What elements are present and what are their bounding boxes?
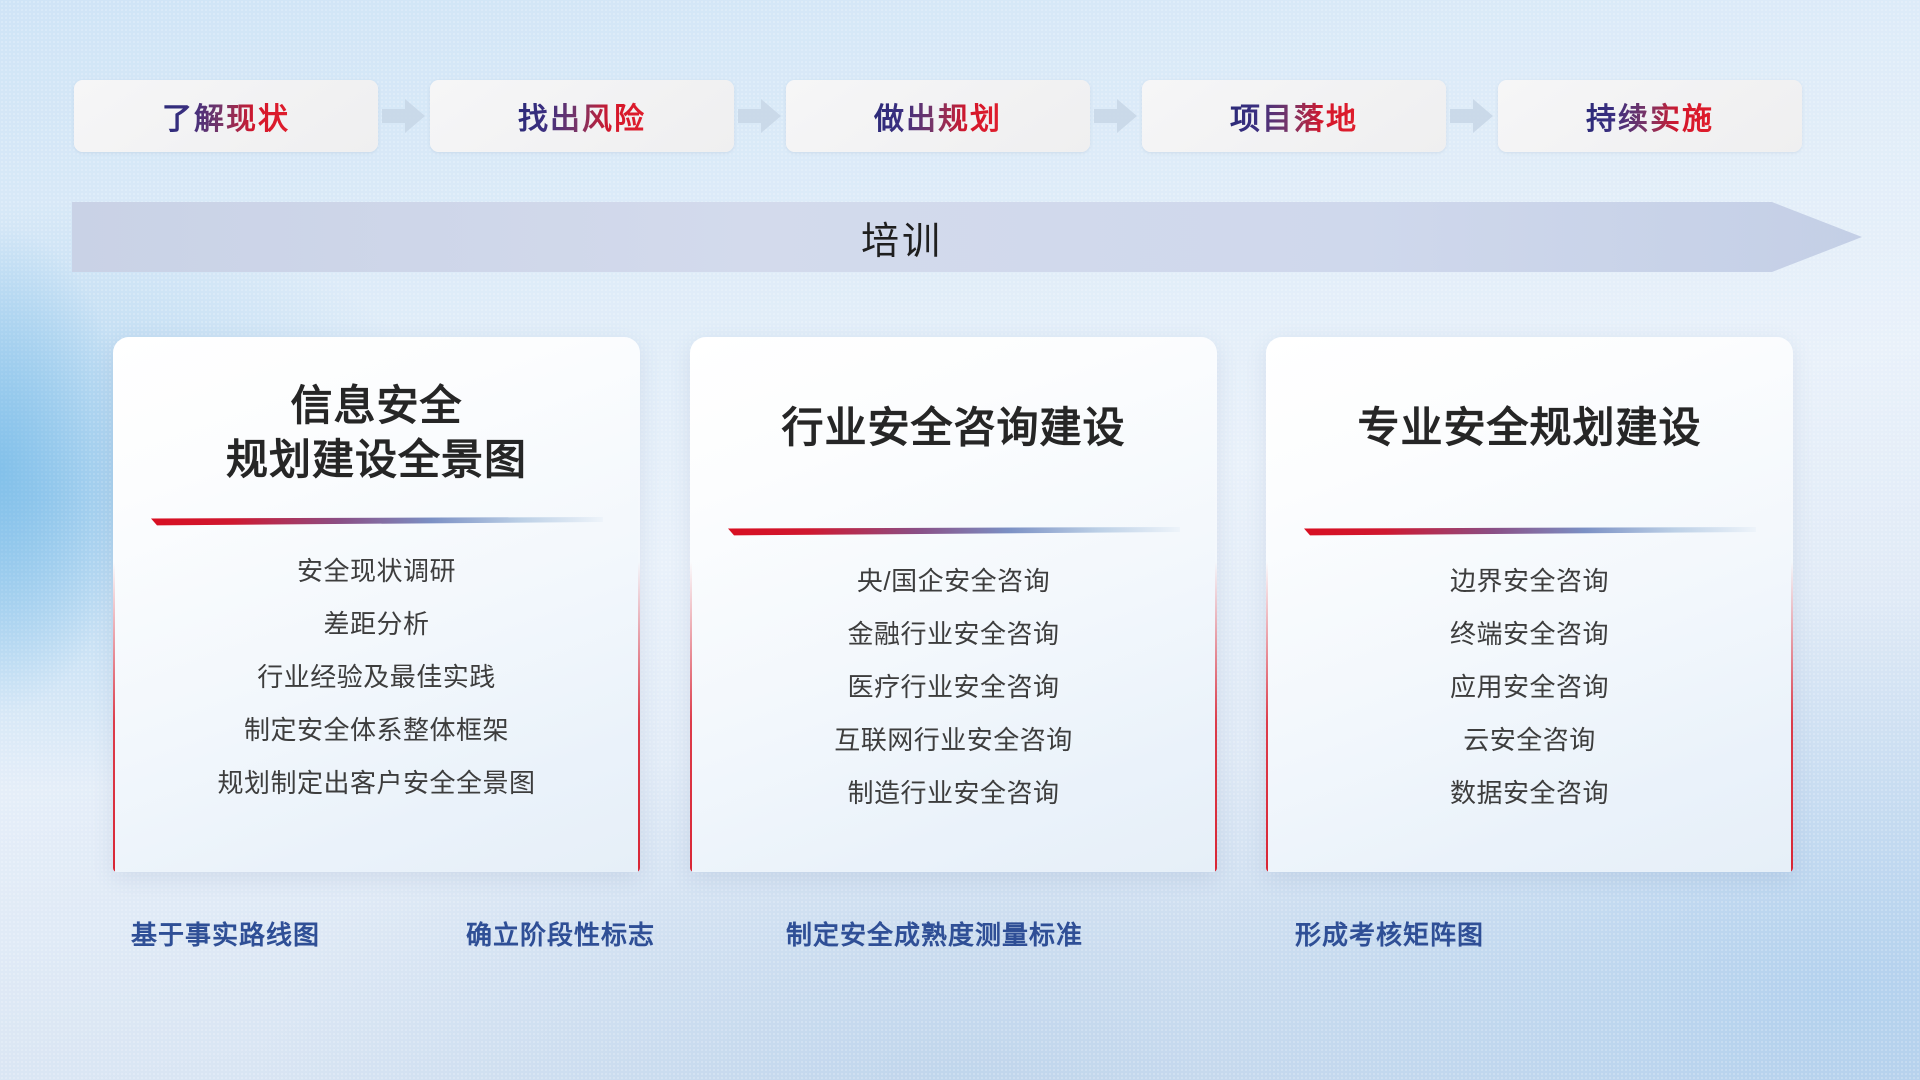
step-label-2: 找出风险 [518,94,646,138]
card-divider-1 [151,517,603,526]
card-title-3: 专业安全规划建设 [1266,337,1793,455]
step-box-4[interactable]: 项目落地 [1142,80,1446,152]
cards-row: 信息安全 规划建设全景图安全现状调研差距分析行业经验及最佳实践制定安全体系整体框… [0,337,1920,877]
step-label-5: 持续实施 [1586,94,1714,138]
caption-1: 基于事实路线图 [131,915,320,952]
captions-row: 基于事实路线图确立阶段性标志制定安全成熟度测量标准形成考核矩阵图 [0,915,1920,965]
list-item[interactable]: 规划制定出客户安全全景图 [133,770,620,796]
list-item[interactable]: 央/国企安全咨询 [710,568,1197,594]
step-arrow-icon-1 [378,96,430,136]
card-list-3: 边界安全咨询终端安全咨询应用安全咨询云安全咨询数据安全咨询 [1266,536,1793,806]
step-box-1[interactable]: 了解现状 [74,80,378,152]
card-divider-3 [1304,527,1756,536]
list-item[interactable]: 数据安全咨询 [1286,780,1773,806]
banner-label: 培训 [72,202,1732,272]
service-card-1[interactable]: 信息安全 规划建设全景图安全现状调研差距分析行业经验及最佳实践制定安全体系整体框… [113,337,640,872]
step-label-1: 了解现状 [162,94,290,138]
process-steps-row: 了解现状找出风险做出规划项目落地持续实施 [0,80,1920,152]
caption-4: 形成考核矩阵图 [1295,915,1484,952]
service-card-2[interactable]: 行业安全咨询建设央/国企安全咨询金融行业安全咨询医疗行业安全咨询互联网行业安全咨… [690,337,1217,872]
card-title-2: 行业安全咨询建设 [690,337,1217,455]
caption-2: 确立阶段性标志 [466,915,655,952]
list-item[interactable]: 差距分析 [133,611,620,637]
list-item[interactable]: 边界安全咨询 [1286,568,1773,594]
card-divider-2 [728,527,1180,536]
card-list-2: 央/国企安全咨询金融行业安全咨询医疗行业安全咨询互联网行业安全咨询制造行业安全咨… [690,536,1217,806]
step-arrow-icon-4 [1446,96,1498,136]
list-item[interactable]: 云安全咨询 [1286,727,1773,753]
list-item[interactable]: 制定安全体系整体框架 [133,717,620,743]
step-box-5[interactable]: 持续实施 [1498,80,1802,152]
service-card-3[interactable]: 专业安全规划建设边界安全咨询终端安全咨询应用安全咨询云安全咨询数据安全咨询 [1266,337,1793,872]
step-label-3: 做出规划 [874,94,1002,138]
list-item[interactable]: 制造行业安全咨询 [710,780,1197,806]
step-label-4: 项目落地 [1230,94,1358,138]
card-list-1: 安全现状调研差距分析行业经验及最佳实践制定安全体系整体框架规划制定出客户安全全景… [113,526,640,796]
list-item[interactable]: 金融行业安全咨询 [710,621,1197,647]
card-title-1: 信息安全 规划建设全景图 [113,337,640,487]
step-arrow-icon-2 [734,96,786,136]
list-item[interactable]: 应用安全咨询 [1286,674,1773,700]
list-item[interactable]: 安全现状调研 [133,558,620,584]
list-item[interactable]: 互联网行业安全咨询 [710,727,1197,753]
list-item[interactable]: 医疗行业安全咨询 [710,674,1197,700]
training-banner: 培训 [72,202,1862,272]
step-arrow-icon-3 [1090,96,1142,136]
list-item[interactable]: 终端安全咨询 [1286,621,1773,647]
step-box-2[interactable]: 找出风险 [430,80,734,152]
step-box-3[interactable]: 做出规划 [786,80,1090,152]
caption-3: 制定安全成熟度测量标准 [786,915,1083,952]
list-item[interactable]: 行业经验及最佳实践 [133,664,620,690]
